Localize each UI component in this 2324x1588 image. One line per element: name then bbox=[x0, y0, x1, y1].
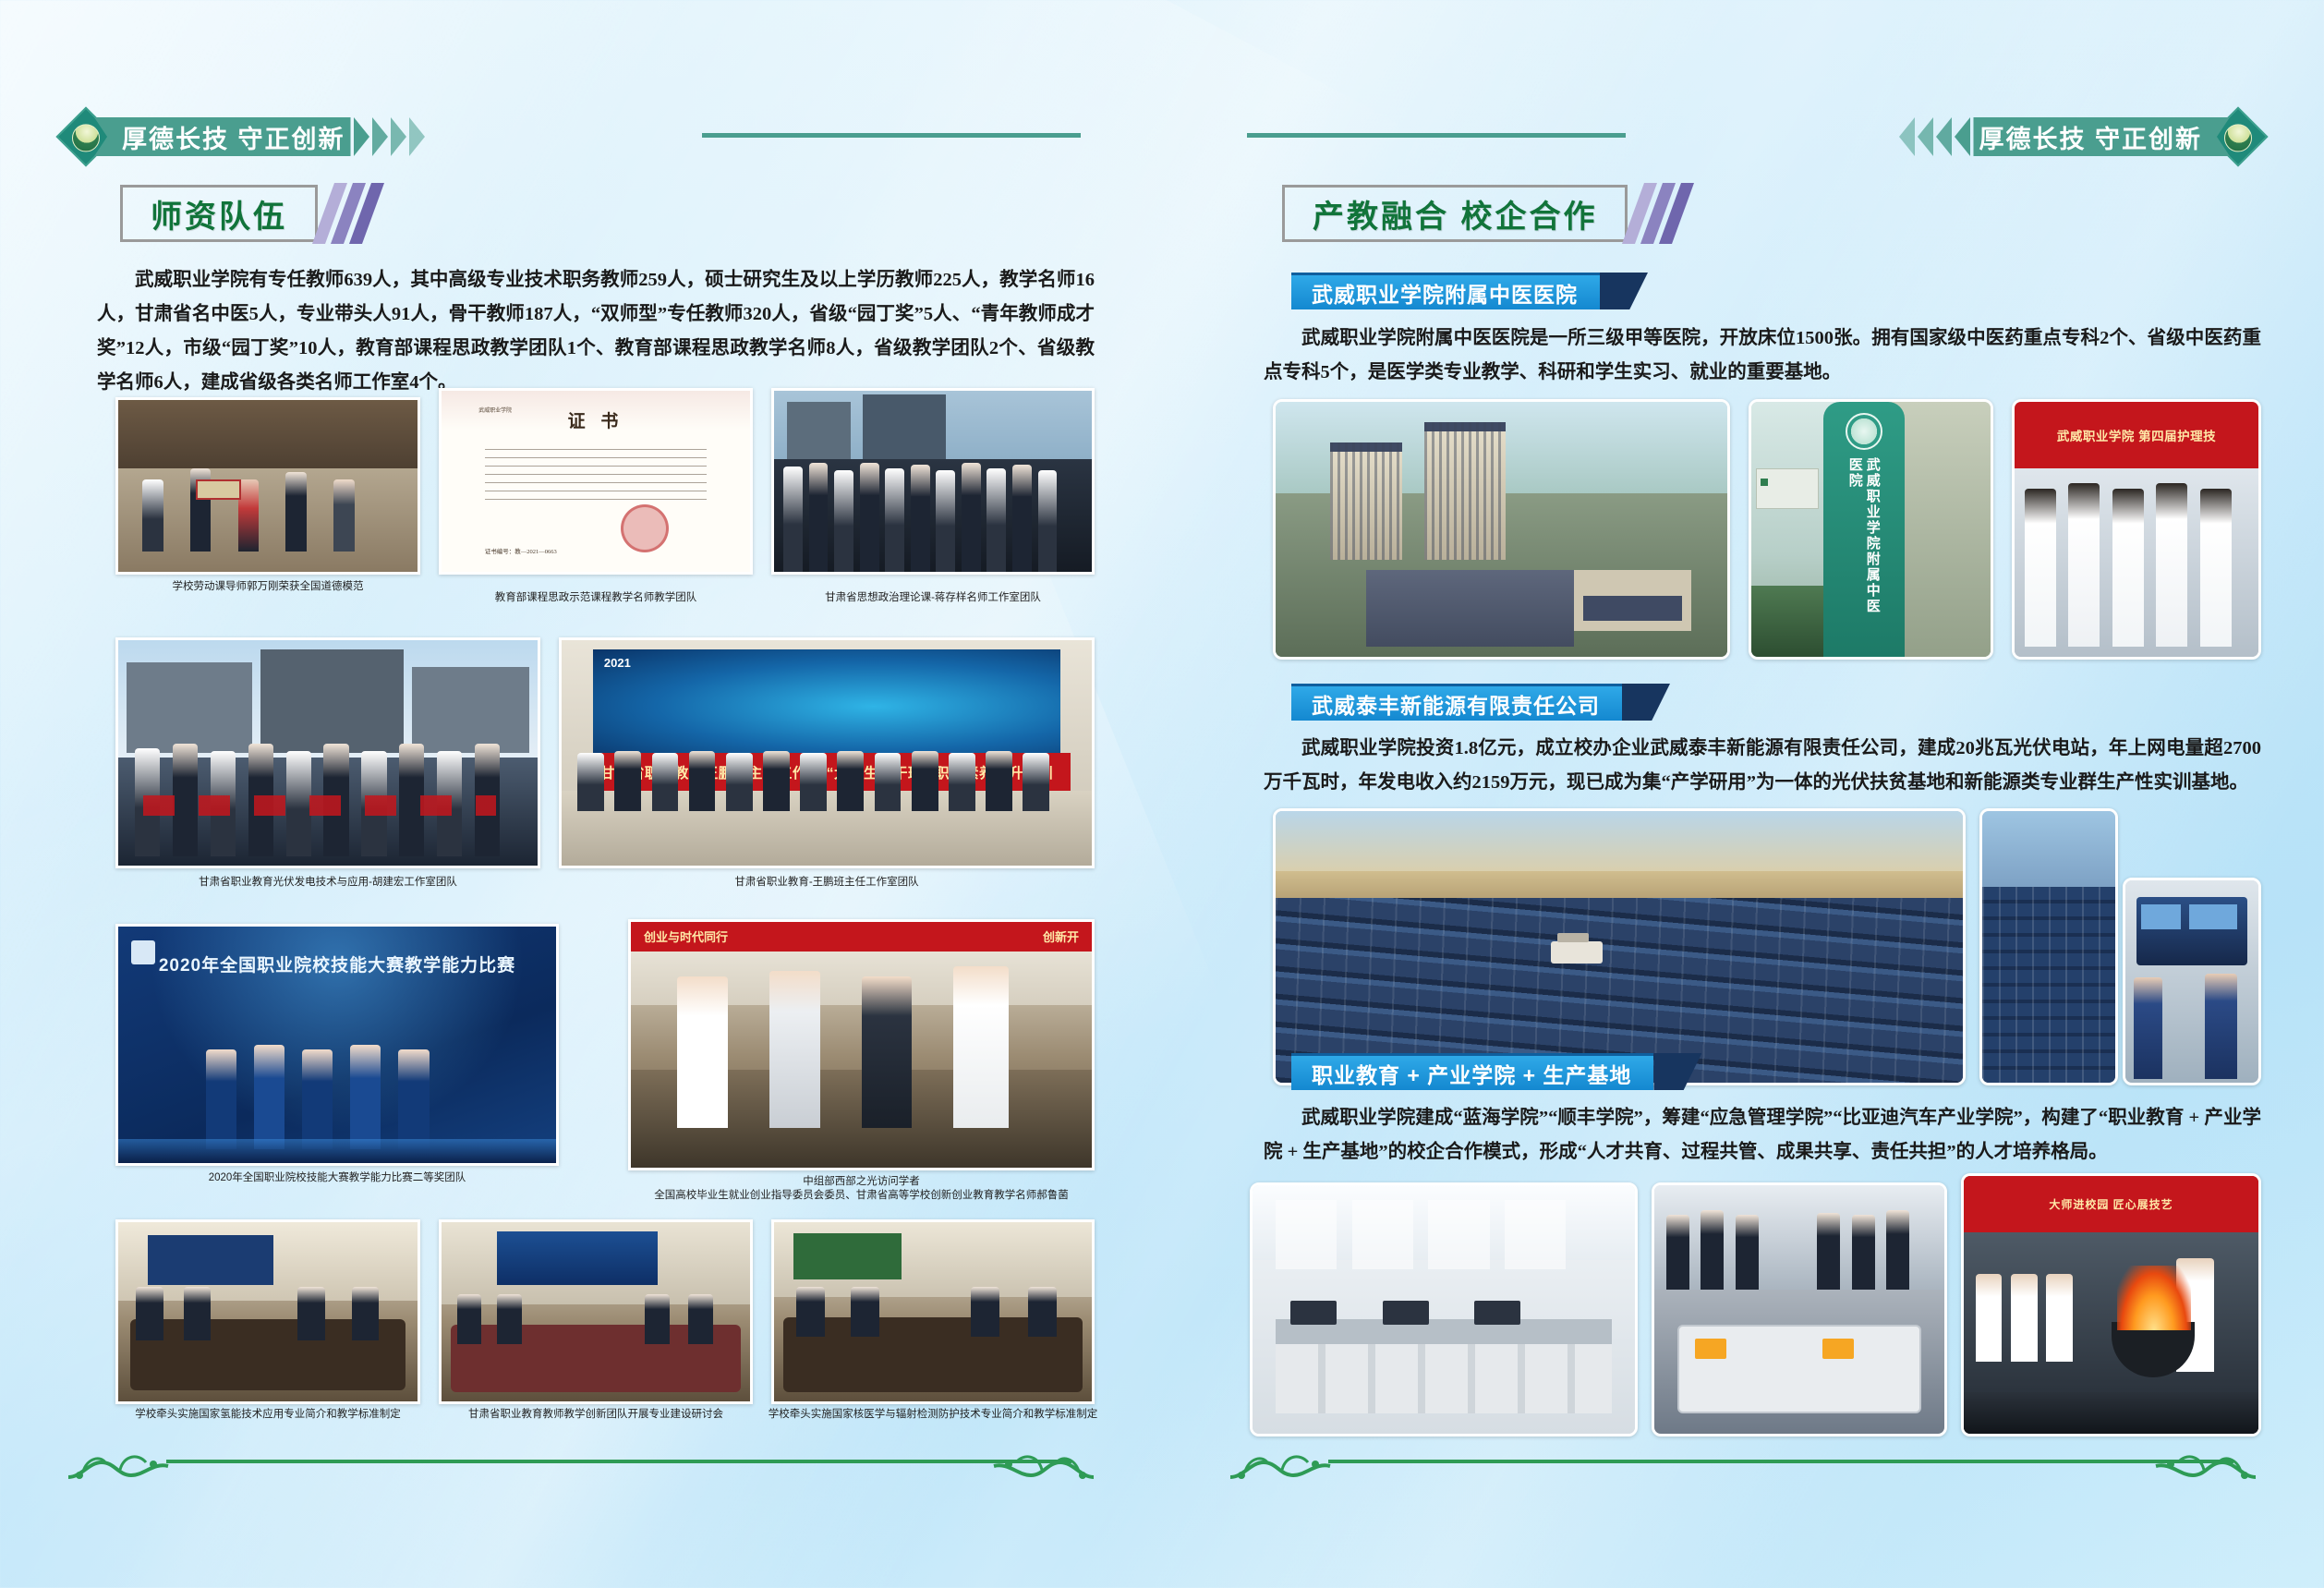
section-title-industry-education: 产教融合 校企合作 bbox=[1282, 185, 1683, 242]
caption-radiation-standard-meeting: 学校牵头实施国家核医学与辐射检测防护技术专业简介和教学标准制定 bbox=[757, 1408, 1108, 1422]
photo-2020-national-teaching-skills-competition: 2020年全国职业院校技能大赛教学能力比赛 bbox=[115, 924, 559, 1166]
photo-teacher-innovation-team-seminar bbox=[439, 1219, 753, 1404]
chevron-right-icon bbox=[354, 117, 369, 156]
photo-culinary-training-kitchen: 大师进校园 匠心展技艺 bbox=[1961, 1173, 2261, 1436]
header-rule-right bbox=[1247, 133, 1626, 138]
kitchen-banner-text: 大师进校园 匠心展技艺 bbox=[2049, 1196, 2173, 1212]
footer-ornament-right bbox=[1227, 1435, 1338, 1488]
subsection-tag-new-energy: 武威泰丰新能源有限责任公司 bbox=[1291, 684, 1670, 721]
photo-national-nuclear-medicine-standard-meeting bbox=[115, 1219, 420, 1404]
photo-solar-panel-maintenance bbox=[1979, 808, 2118, 1085]
caption-labor-education: 学校劳动课导师郭万刚荣获全国道德模范 bbox=[115, 580, 420, 594]
running-head-text: 厚德长技 守正创新 bbox=[122, 119, 345, 155]
section-title-frame: 师资队伍 bbox=[120, 185, 318, 242]
college-emblem-icon bbox=[55, 106, 115, 166]
certificate-title: 证 书 bbox=[568, 407, 624, 432]
caption-nuclear-standard-meeting: 学校牵头实施国家氢能技术应用专业简介和教学标准制定 bbox=[111, 1408, 425, 1422]
chevron-right-icon bbox=[409, 117, 425, 156]
faculty-paragraph: 武威职业学院有专任教师639人，其中高级专业技术职务教师259人，硕士研究生及以… bbox=[97, 263, 1095, 400]
chevron-group-left bbox=[1899, 117, 1973, 156]
photo-labor-education-teacher-award bbox=[115, 397, 420, 575]
subsection-tag-body: 职业教育 + 产业学院 + 生产基地 bbox=[1291, 1053, 1653, 1090]
chevron-left-icon bbox=[1955, 117, 1970, 156]
caption-certificate: 教育部课程思政示范课程教学名师教学团队 bbox=[425, 591, 767, 605]
photo-entrepreneurship-visiting-scholar: 创业与时代同行 创新开 bbox=[628, 919, 1095, 1170]
section-title-faculty: 师资队伍 bbox=[120, 185, 373, 242]
nursing-competition-banner: 武威职业学院 第四届护理技 bbox=[2057, 426, 2216, 444]
section-title-text: 师资队伍 bbox=[151, 191, 287, 236]
photo-wangpeng-class-advisor-training: 2021 甘肃省职业教育王鹏班主任工作室 “大学生骨干班” 职业素养提升培训 bbox=[559, 637, 1095, 868]
college-emblem-icon bbox=[2208, 106, 2268, 166]
certificate-code: 证书编号：教—2021—0663 bbox=[485, 546, 557, 555]
photo-industry-college-classroom bbox=[1250, 1182, 1638, 1436]
chevron-left-icon bbox=[1899, 117, 1915, 156]
year-badge: 2021 bbox=[604, 656, 631, 670]
subsection-tag-tail bbox=[1653, 1053, 1701, 1090]
photo-solar-farm-aerial bbox=[1273, 808, 1966, 1085]
subsection-tag-label: 武威泰丰新能源有限责任公司 bbox=[1312, 688, 1600, 720]
innovation-banner-text: 创业与时代同行 bbox=[644, 927, 728, 945]
footer-ornament-left-mirror bbox=[986, 1435, 1097, 1488]
photo-certificate: 证 书 武威职业学院 证书编号：教—2021—0663 bbox=[439, 388, 753, 575]
chevron-left-icon bbox=[1918, 117, 1933, 156]
footer-rule-left bbox=[166, 1460, 1071, 1463]
running-head-right: 厚德长技 守正创新 bbox=[1899, 115, 2259, 158]
photo-radiation-protection-standard-meeting bbox=[771, 1219, 1095, 1404]
running-head-text: 厚德长技 守正创新 bbox=[1979, 119, 2202, 155]
competition-title-text: 2020年全国职业院校技能大赛教学能力比赛 bbox=[159, 952, 515, 976]
right-page: 厚德长技 守正创新 产教融合 校企合作 武威职业学院附属中医医院 武威职业学院附… bbox=[1162, 0, 2324, 1588]
caption-wangpeng-training: 甘肃省职业教育-王鹏班主任工作室团队 bbox=[554, 876, 1099, 890]
photo-ideological-theory-team bbox=[771, 388, 1095, 575]
hospital-sign-text: 武威职业学院附属中医医院 bbox=[1846, 457, 1882, 624]
industry-college-paragraph: 武威职业学院建成“蓝海学院”“顺丰学院”，筹建“应急管理学院”“比亚迪汽车产业学… bbox=[1264, 1101, 2261, 1170]
caption-ideological-theory-team: 甘肃省思想政治理论课-蒋存样名师工作室团队 bbox=[767, 591, 1099, 605]
photo-hospital-aerial-view bbox=[1273, 399, 1730, 660]
running-head-bar: 厚德长技 守正创新 bbox=[94, 117, 351, 156]
header-rule-left bbox=[702, 133, 1081, 138]
subsection-tag-hospital: 武威职业学院附属中医医院 bbox=[1291, 273, 1648, 309]
chevron-left-icon bbox=[1936, 117, 1952, 156]
subsection-tag-label: 职业教育 + 产业学院 + 生产基地 bbox=[1312, 1058, 1631, 1089]
photo-control-room-monitoring bbox=[2123, 878, 2261, 1085]
section-title-text: 产教融合 校企合作 bbox=[1313, 191, 1597, 236]
subsection-tag-body: 武威职业学院附属中医医院 bbox=[1291, 273, 1600, 309]
caption-visiting-scholar: 中组部西部之光访问学者 全国高校毕业生就业创业指导委员会委员、甘肃省高等学校创新… bbox=[610, 1175, 1113, 1203]
left-page: 厚德长技 守正创新 师资队伍 武威职业学院有专任教师639人，其中高级专业技术职… bbox=[0, 0, 1162, 1588]
running-head-bar: 厚德长技 守正创新 bbox=[1973, 117, 2230, 156]
running-head-left: 厚德长技 守正创新 bbox=[65, 115, 425, 158]
subsection-tag-body: 武威泰丰新能源有限责任公司 bbox=[1291, 684, 1622, 721]
footer-ornament-left bbox=[65, 1435, 176, 1488]
photo-pv-technology-team bbox=[115, 637, 540, 868]
new-energy-paragraph: 武威职业学院投资1.8亿元，成立校办企业武威泰丰新能源有限责任公司，建成20兆瓦… bbox=[1264, 732, 2261, 800]
chevron-right-icon bbox=[391, 117, 406, 156]
footer-rule-right bbox=[1328, 1460, 2233, 1463]
caption-2020-competition: 2020年全国职业院校技能大赛教学能力比赛二等奖团队 bbox=[111, 1171, 563, 1185]
subsection-tag-tail bbox=[1622, 684, 1670, 721]
caption-innovation-seminar: 甘肃省职业教育教师教学创新团队开展专业建设研讨会 bbox=[430, 1408, 762, 1422]
subsection-tag-label: 武威职业学院附属中医医院 bbox=[1312, 277, 1578, 309]
certificate-heading: 武威职业学院 bbox=[478, 406, 512, 414]
subsection-tag-industry-college: 职业教育 + 产业学院 + 生产基地 bbox=[1291, 1053, 1701, 1090]
photo-hospital-signage: 武威职业学院附属中医医院 bbox=[1749, 399, 1993, 660]
photo-cooperation-signing-meeting bbox=[1652, 1182, 1947, 1436]
subsection-tag-tail bbox=[1600, 273, 1648, 309]
caption-pv-technology-team: 甘肃省职业教育光伏发电技术与应用-胡建宏工作室团队 bbox=[111, 876, 545, 890]
hospital-logo-icon bbox=[1846, 413, 1882, 450]
section-title-frame: 产教融合 校企合作 bbox=[1282, 185, 1628, 242]
photo-nursing-skills-competition: 武威职业学院 第四届护理技 bbox=[2012, 399, 2261, 660]
footer-ornament-right-mirror bbox=[2148, 1435, 2259, 1488]
hospital-paragraph: 武威职业学院附属中医医院是一所三级甲等医院，开放床位1500张。拥有国家级中医药… bbox=[1264, 321, 2261, 390]
innovation-banner-text-2: 创新开 bbox=[1043, 927, 1079, 945]
chevron-right-icon bbox=[372, 117, 388, 156]
chevron-group-right bbox=[351, 117, 425, 156]
